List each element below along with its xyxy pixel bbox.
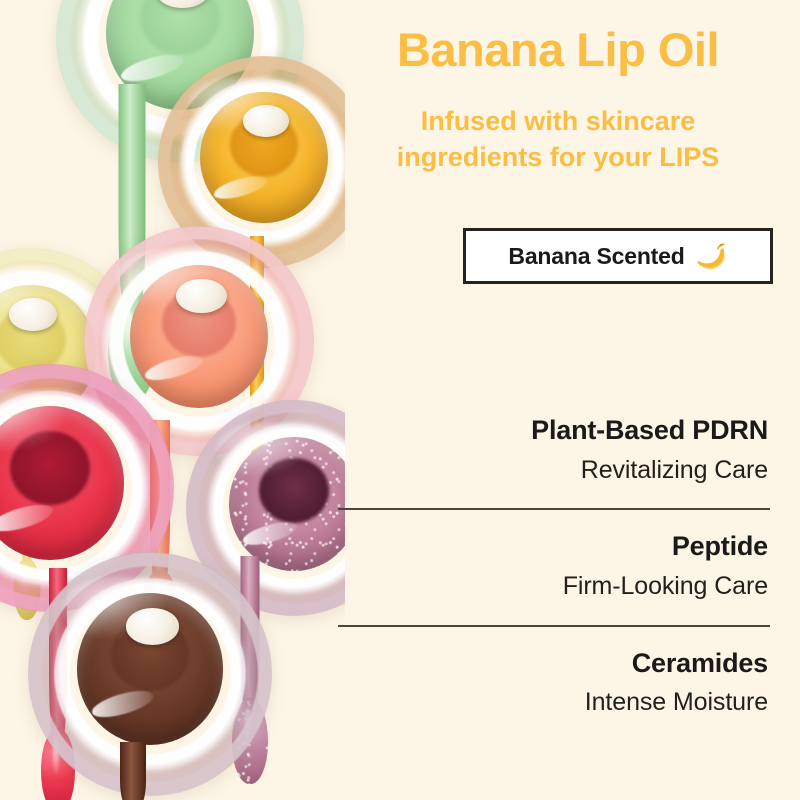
content-panel: Banana Lip Oil Infused with skincare ing… [338,0,778,800]
oil-drip-chocolate-brown [108,742,158,800]
scent-badge: Banana Scented [463,228,773,284]
feature-title: Peptide [338,530,768,564]
drip-stem [120,742,146,800]
feature-subtitle: Firm-Looking Care [338,570,768,603]
feature-title: Plant-Based PDRN [338,414,768,448]
features-list: Plant-Based PDRN Revitalizing Care Pepti… [338,412,778,719]
scent-badge-label: Banana Scented [508,243,684,270]
feature-title: Ceramides [338,647,768,681]
jar-sheen [62,576,169,639]
product-image-collage [0,0,345,800]
jar-sheen [216,422,311,478]
page-subtitle: Infused with skincare ingredients for yo… [338,104,778,175]
subtitle-line-1: Infused with skincare [338,104,778,140]
feature-subtitle: Revitalizing Care [338,454,768,487]
subtitle-line-2: ingredients for your LIPS [338,140,778,176]
feature-divider [338,625,770,627]
feature-item-1: Plant-Based PDRN Revitalizing Care [338,412,778,486]
jar-sheen [116,249,217,309]
feature-item-3: Ceramides Intense Moisture [338,647,778,719]
banana-icon [694,241,728,271]
page-title: Banana Lip Oil [338,26,778,75]
feature-divider [338,508,770,510]
feature-subtitle: Intense Moisture [338,686,768,719]
feature-item-2: Peptide Firm-Looking Care [338,530,778,602]
product-poster: Banana Lip Oil Infused with skincare ing… [0,0,800,800]
jar-sheen [188,77,281,132]
